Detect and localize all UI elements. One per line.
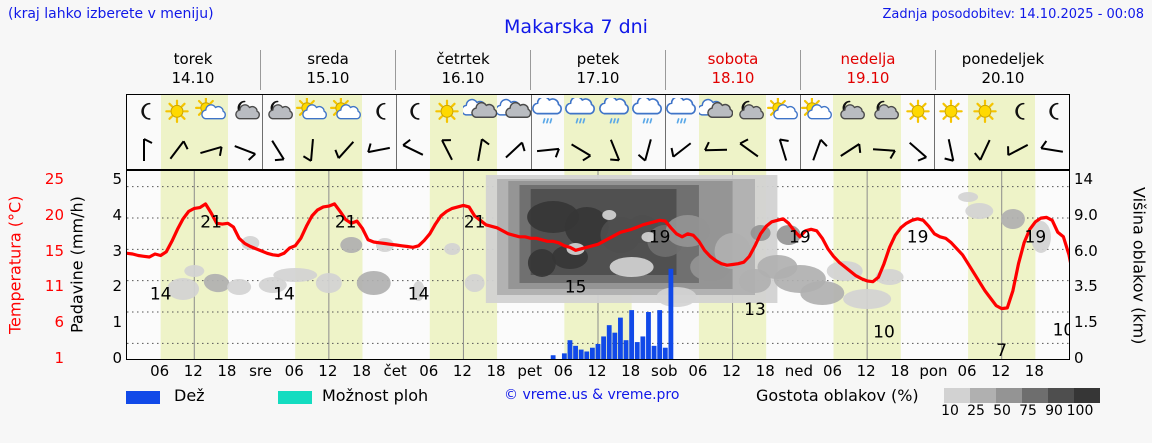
wind-barb-icon bbox=[196, 135, 226, 165]
forecast-slot bbox=[665, 95, 699, 169]
axis-tick: 4 bbox=[92, 206, 122, 224]
day-date: 20.10 bbox=[936, 69, 1070, 88]
cloud-ramp-segment bbox=[1022, 388, 1048, 403]
cloud-blob bbox=[340, 237, 362, 253]
x-axis-labels: 061218sre061218čet061218pet061218sob0612… bbox=[126, 362, 1070, 382]
rain-bar bbox=[629, 310, 634, 359]
cloud-density-ramp-numbers: 1025507590100 bbox=[938, 403, 1128, 421]
axis-tick: 9.0 bbox=[1074, 206, 1114, 224]
sun-cloud-icon bbox=[295, 98, 329, 128]
forecast-slot bbox=[632, 95, 666, 169]
cloud-blob bbox=[444, 243, 460, 255]
wind-barb-icon bbox=[835, 135, 865, 165]
showers-legend-label: Možnost ploh bbox=[322, 386, 428, 405]
rain-bar bbox=[635, 342, 640, 359]
forecast-slot bbox=[800, 95, 834, 169]
forecast-slot bbox=[1002, 95, 1036, 169]
cloudheight-axis-ticks: 149.06.03.51.50 bbox=[1074, 164, 1114, 364]
wind-barb-icon bbox=[129, 135, 159, 165]
forecast-slot bbox=[968, 95, 1002, 169]
temperature-axis-ticks: 2520151161 bbox=[28, 164, 64, 364]
cloud-blob bbox=[657, 287, 697, 307]
wind-barb-icon bbox=[701, 135, 731, 165]
forecast-slot bbox=[463, 95, 497, 169]
forecast-plot: 21142114211415191319101971910 bbox=[126, 170, 1070, 360]
moon-icon bbox=[1001, 98, 1035, 128]
cloud-blob bbox=[167, 278, 199, 300]
sun-icon bbox=[430, 98, 464, 128]
cloud-blob bbox=[273, 268, 317, 282]
forecast-slot bbox=[161, 95, 195, 169]
x-axis-tick-label: 06 bbox=[823, 362, 842, 380]
moon-cloud-icon bbox=[261, 98, 295, 128]
moon-icon bbox=[1035, 98, 1069, 128]
day-header-sreda: sreda15.10 bbox=[260, 50, 395, 90]
wind-barb-icon bbox=[398, 135, 428, 165]
wind-barb-icon bbox=[533, 135, 563, 165]
x-axis-tick-label: 18 bbox=[217, 362, 236, 380]
temperature-axis-title: Temperatura (°C) bbox=[4, 170, 26, 360]
cloud-ramp-number: 90 bbox=[1045, 403, 1063, 419]
rain-bar bbox=[584, 351, 589, 359]
forecast-slot bbox=[362, 95, 396, 169]
precipitation-axis-title: Padavine (mm/h) bbox=[66, 170, 88, 360]
weather-icon-panel bbox=[126, 94, 1070, 170]
forecast-slot bbox=[329, 95, 363, 169]
sun-icon bbox=[160, 98, 194, 128]
sun-cloud-icon bbox=[800, 98, 834, 128]
cloud-blob bbox=[958, 192, 978, 202]
cloud-blob bbox=[843, 289, 891, 309]
axis-tick: 3.5 bbox=[1074, 277, 1114, 295]
cloud-ramp-number: 50 bbox=[993, 403, 1011, 419]
rain-bar bbox=[657, 310, 662, 359]
x-axis-tick-label: sre bbox=[249, 362, 272, 380]
day-separator bbox=[262, 95, 263, 169]
cloud-rain-icon bbox=[665, 98, 699, 128]
forecast-slot bbox=[934, 95, 968, 169]
day-name: petek bbox=[531, 50, 665, 69]
wind-barb-icon bbox=[970, 135, 1000, 165]
rain-bar bbox=[663, 348, 668, 359]
axis-tick: 6 bbox=[28, 313, 64, 331]
cloud-rain-icon bbox=[564, 98, 598, 128]
cloud-rain-icon bbox=[631, 98, 665, 128]
forecast-slot bbox=[396, 95, 430, 169]
sun-icon bbox=[968, 98, 1002, 128]
day-header-row: torek14.10sreda15.10četrtek16.10petek17.… bbox=[126, 50, 1070, 90]
cloud-blob bbox=[800, 281, 844, 305]
cloud-ramp-segment bbox=[1074, 388, 1100, 403]
x-axis-tick-label: 06 bbox=[285, 362, 304, 380]
axis-tick: 6.0 bbox=[1074, 242, 1114, 260]
cloud-icon bbox=[463, 98, 497, 128]
x-axis-tick-label: 06 bbox=[688, 362, 707, 380]
x-axis-tick-label: 18 bbox=[352, 362, 371, 380]
sun-icon bbox=[934, 98, 968, 128]
copyright-link[interactable]: © vreme.us & vreme.pro bbox=[504, 387, 679, 403]
axis-tick: 1.5 bbox=[1074, 313, 1114, 331]
wind-barb-icon bbox=[600, 135, 630, 165]
wind-barb-icon bbox=[331, 135, 361, 165]
sun-cloud-icon bbox=[329, 98, 363, 128]
moon-icon bbox=[362, 98, 396, 128]
forecast-slot bbox=[262, 95, 296, 169]
x-axis-tick-label: 06 bbox=[554, 362, 573, 380]
cloud-blob bbox=[357, 271, 391, 295]
forecast-slot bbox=[194, 95, 228, 169]
cloud-ramp-segment bbox=[996, 388, 1022, 403]
cloud-ramp-segment bbox=[1048, 388, 1074, 403]
cloud-ramp-number: 10 bbox=[941, 403, 959, 419]
moon-cloud-icon bbox=[732, 98, 766, 128]
sun-cloud-icon bbox=[194, 98, 228, 128]
temp-extreme-label: 14 bbox=[150, 285, 172, 305]
day-separator bbox=[531, 95, 532, 169]
day-separator bbox=[665, 95, 666, 169]
x-axis-tick-label: 18 bbox=[487, 362, 506, 380]
wind-barb-icon bbox=[432, 135, 462, 165]
moon-cloud-icon bbox=[228, 98, 262, 128]
temp-extreme-label: 21 bbox=[335, 212, 357, 232]
cloud-blob bbox=[610, 257, 654, 277]
wind-barb-icon bbox=[633, 135, 663, 165]
temp-extreme-label: 21 bbox=[464, 212, 486, 232]
cloud-ramp-number: 100 bbox=[1067, 403, 1094, 419]
x-axis-tick-label: 06 bbox=[419, 362, 438, 380]
x-axis-tick-label: 12 bbox=[587, 362, 606, 380]
wind-barb-icon bbox=[768, 135, 798, 165]
axis-tick: 14 bbox=[1074, 170, 1114, 188]
x-axis-tick-label: ned bbox=[785, 362, 813, 380]
forecast-slot bbox=[430, 95, 464, 169]
day-date: 16.10 bbox=[396, 69, 530, 88]
day-header-torek: torek14.10 bbox=[126, 50, 260, 90]
wind-barb-icon bbox=[903, 135, 933, 165]
day-date: 15.10 bbox=[261, 69, 395, 88]
cloud-ramp-segment bbox=[970, 388, 996, 403]
x-axis-tick-label: 06 bbox=[958, 362, 977, 380]
wind-barb-icon bbox=[734, 135, 764, 165]
wind-barb-icon bbox=[364, 135, 394, 165]
axis-tick: 20 bbox=[28, 206, 64, 224]
forecast-slot bbox=[699, 95, 733, 169]
cloud-blob bbox=[227, 279, 251, 295]
day-date: 14.10 bbox=[126, 69, 260, 88]
forecast-slot bbox=[497, 95, 531, 169]
forecast-slot bbox=[564, 95, 598, 169]
rain-bar bbox=[551, 355, 556, 359]
sun-icon bbox=[901, 98, 935, 128]
forecast-slot bbox=[531, 95, 565, 169]
temp-extreme-label: 7 bbox=[996, 341, 1007, 359]
cloud-blob bbox=[316, 273, 342, 293]
moon-icon bbox=[396, 98, 430, 128]
temp-extreme-label: 14 bbox=[408, 285, 430, 305]
cloud-blob bbox=[602, 210, 616, 220]
day-header-petek: petek17.10 bbox=[530, 50, 665, 90]
x-axis-tick-label: čet bbox=[383, 362, 406, 380]
forecast-slot bbox=[733, 95, 767, 169]
temp-extreme-label: 15 bbox=[565, 277, 587, 297]
cloud-icon bbox=[699, 98, 733, 128]
cloud-blob bbox=[965, 203, 993, 219]
x-axis-tick-label: sob bbox=[651, 362, 678, 380]
x-axis-tick-label: 12 bbox=[991, 362, 1010, 380]
rain-bar bbox=[607, 325, 612, 359]
cloud-rain-icon bbox=[531, 98, 565, 128]
rain-bar bbox=[668, 269, 673, 359]
showers-legend-swatch bbox=[278, 391, 312, 404]
rain-bar bbox=[573, 346, 578, 359]
cloud-ramp-segment bbox=[944, 388, 970, 403]
rain-legend-swatch bbox=[126, 391, 160, 404]
precipitation-axis-ticks: 543210 bbox=[92, 164, 122, 364]
x-axis-tick-label: 18 bbox=[1025, 362, 1044, 380]
temp-extreme-label: 19 bbox=[907, 227, 929, 247]
cloud-blob bbox=[528, 249, 556, 277]
day-header-četrtek: četrtek16.10 bbox=[395, 50, 530, 90]
rain-bar bbox=[618, 318, 623, 359]
day-name: četrtek bbox=[396, 50, 530, 69]
axis-tick: 1 bbox=[92, 313, 122, 331]
day-date: 19.10 bbox=[801, 69, 935, 88]
x-axis-tick-label: 06 bbox=[150, 362, 169, 380]
cloudheight-axis-title: Višina oblakov (km) bbox=[1128, 166, 1150, 366]
forecast-slot bbox=[766, 95, 800, 169]
day-name: nedelja bbox=[801, 50, 935, 69]
forecast-slot bbox=[901, 95, 935, 169]
axis-tick: 25 bbox=[28, 170, 64, 188]
temp-extreme-label: 10 bbox=[873, 323, 895, 343]
axis-tick: 11 bbox=[28, 277, 64, 295]
x-axis-tick-label: 12 bbox=[722, 362, 741, 380]
rain-bar bbox=[579, 350, 584, 359]
rain-bar bbox=[652, 346, 657, 359]
axis-tick: 0 bbox=[1074, 349, 1114, 367]
wind-barb-icon bbox=[465, 135, 495, 165]
temp-extreme-label: 19 bbox=[789, 227, 811, 247]
forecast-slot bbox=[127, 95, 161, 169]
cloud-density-legend-label: Gostota oblakov (%) bbox=[756, 386, 919, 405]
wind-barb-icon bbox=[936, 135, 966, 165]
rain-bar bbox=[624, 340, 629, 359]
sun-cloud-icon bbox=[766, 98, 800, 128]
wind-barb-icon bbox=[1037, 135, 1067, 165]
axis-tick: 5 bbox=[92, 170, 122, 188]
temp-extreme-label: 13 bbox=[744, 300, 766, 320]
rain-bar bbox=[596, 344, 601, 359]
cloud-blob bbox=[184, 265, 204, 277]
wind-barb-icon bbox=[667, 135, 697, 165]
wind-barb-icon bbox=[297, 135, 327, 165]
rain-bar bbox=[640, 336, 645, 359]
cloud-density-ramp bbox=[944, 388, 1100, 403]
temp-extreme-label: 19 bbox=[649, 227, 671, 247]
temp-extreme-label: 10 bbox=[1053, 321, 1069, 341]
day-separator bbox=[800, 95, 801, 169]
cloud-blob bbox=[1001, 209, 1025, 229]
x-axis-tick-label: pet bbox=[517, 362, 542, 380]
rain-bar bbox=[590, 348, 595, 359]
cloud-ramp-number: 25 bbox=[967, 403, 985, 419]
x-axis-tick-label: 18 bbox=[756, 362, 775, 380]
x-axis-tick-label: 18 bbox=[890, 362, 909, 380]
x-axis-tick-label: 12 bbox=[857, 362, 876, 380]
moon-cloud-icon bbox=[867, 98, 901, 128]
wind-barb-icon bbox=[162, 135, 192, 165]
x-axis-tick-label: 12 bbox=[184, 362, 203, 380]
last-updated: Zadnja posodobitev: 14.10.2025 - 00:08 bbox=[882, 7, 1144, 22]
rain-bar bbox=[601, 336, 606, 359]
wind-barb-icon bbox=[566, 135, 596, 165]
day-name: ponedeljek bbox=[936, 50, 1070, 69]
axis-tick: 15 bbox=[28, 242, 64, 260]
axis-tick: 0 bbox=[92, 349, 122, 367]
cloud-blob bbox=[465, 274, 485, 292]
day-header-ponedeljek: ponedeljek20.10 bbox=[935, 50, 1070, 90]
axis-tick: 2 bbox=[92, 277, 122, 295]
axis-tick: 3 bbox=[92, 242, 122, 260]
cloud-rain-icon bbox=[598, 98, 632, 128]
day-date: 18.10 bbox=[666, 69, 800, 88]
day-separator bbox=[396, 95, 397, 169]
moon-cloud-icon bbox=[833, 98, 867, 128]
day-header-nedelja: nedelja19.10 bbox=[800, 50, 935, 90]
wind-barb-icon bbox=[802, 135, 832, 165]
day-header-sobota: sobota18.10 bbox=[665, 50, 800, 90]
day-name: sobota bbox=[666, 50, 800, 69]
wind-barb-icon bbox=[230, 135, 260, 165]
temp-extreme-label: 19 bbox=[1025, 227, 1047, 247]
forecast-slot bbox=[228, 95, 262, 169]
rain-bar bbox=[612, 333, 617, 359]
temp-extreme-label: 21 bbox=[200, 212, 222, 232]
forecast-slot bbox=[295, 95, 329, 169]
chart-legend: Dež Možnost ploh © vreme.us & vreme.pro … bbox=[126, 386, 1146, 414]
x-axis-tick-label: 12 bbox=[318, 362, 337, 380]
wind-barb-icon bbox=[1003, 135, 1033, 165]
moon-icon bbox=[127, 98, 161, 128]
day-separator bbox=[934, 95, 935, 169]
forecast-slot bbox=[833, 95, 867, 169]
x-axis-tick-label: 12 bbox=[453, 362, 472, 380]
cloud-ramp-number: 75 bbox=[1019, 403, 1037, 419]
rain-bar bbox=[646, 312, 651, 359]
day-name: sreda bbox=[261, 50, 395, 69]
x-axis-tick-label: pon bbox=[919, 362, 947, 380]
rain-legend-label: Dež bbox=[174, 386, 205, 405]
forecast-slot bbox=[1035, 95, 1069, 169]
wind-barb-icon bbox=[263, 135, 293, 165]
axis-tick: 1 bbox=[28, 349, 64, 367]
cloud-icon bbox=[497, 98, 531, 128]
wind-barb-icon bbox=[869, 135, 899, 165]
rain-bar bbox=[568, 340, 573, 359]
day-name: torek bbox=[126, 50, 260, 69]
forecast-slot bbox=[598, 95, 632, 169]
forecast-slot bbox=[867, 95, 901, 169]
temp-extreme-label: 14 bbox=[273, 285, 295, 305]
rain-bar bbox=[562, 353, 567, 359]
x-axis-tick-label: 18 bbox=[621, 362, 640, 380]
wind-barb-icon bbox=[499, 135, 529, 165]
day-date: 17.10 bbox=[531, 69, 665, 88]
